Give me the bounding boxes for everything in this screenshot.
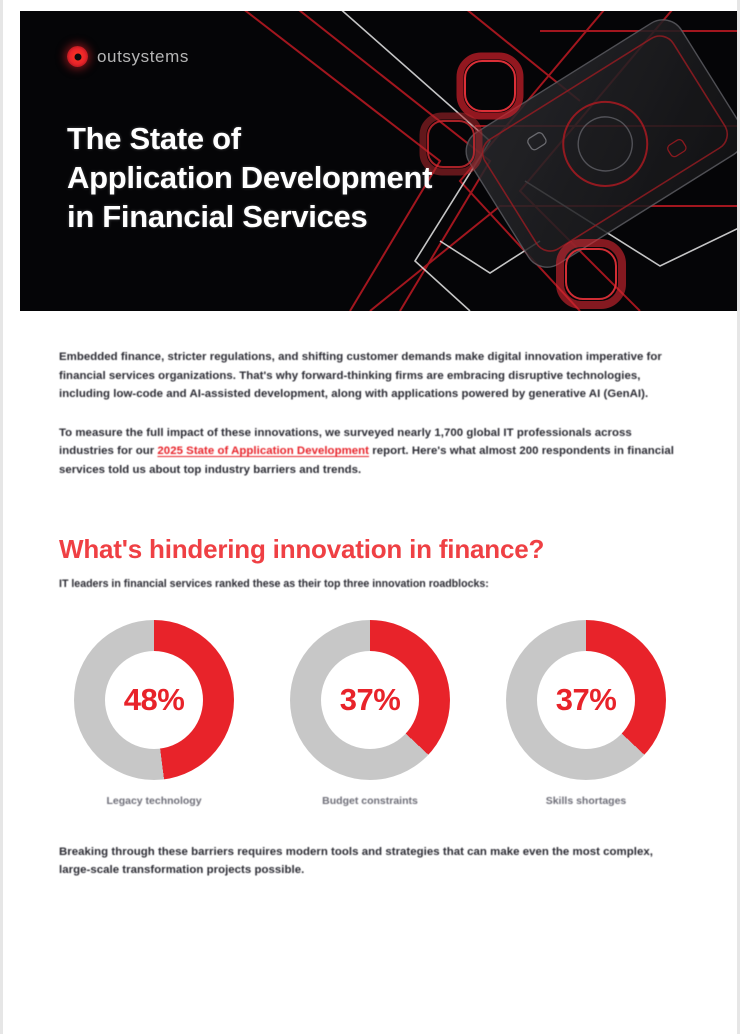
donut-stat-0: 48% Legacy technology [65,620,243,809]
intro-paragraph-2: To measure the full impact of these inno… [59,424,681,480]
donut-chart-group: 48% Legacy technology 37% Budget constra… [59,620,681,809]
hero-banner: outsystems The State of Application Deve… [20,11,740,311]
donut-ring-2: 37% [506,620,666,780]
donut-center-1: 37% [321,651,419,749]
section-subheading: IT leaders in financial services ranked … [59,577,681,592]
document-body: Embedded finance, stricter regulations, … [3,311,737,880]
hero-title-line-1: The State of [67,119,432,158]
closing-paragraph: Breaking through these barriers requires… [59,843,681,880]
donut-value-2: 37% [556,682,617,718]
donut-ring-1: 37% [290,620,450,780]
donut-label-0: Legacy technology [106,794,201,809]
report-link[interactable]: 2025 State of Application Development [157,445,369,457]
intro-paragraph-1: Embedded finance, stricter regulations, … [59,348,681,404]
brand-logo[interactable]: outsystems [67,46,189,67]
donut-stat-2: 37% Skills shortages [497,620,675,809]
donut-center-2: 37% [537,651,635,749]
section-heading: What's hindering innovation in finance? [59,534,681,565]
infographic-page: outsystems The State of Application Deve… [0,0,740,1034]
donut-center-0: 48% [105,651,203,749]
hero-title: The State of Application Development in … [67,119,432,236]
outsystems-o-mark-icon [67,46,88,67]
hero-title-line-2: Application Development [67,158,432,197]
hero-title-line-3: in Financial Services [67,197,432,236]
donut-value-1: 37% [340,682,401,718]
donut-ring-0: 48% [74,620,234,780]
donut-label-1: Budget constraints [322,794,418,809]
donut-label-2: Skills shortages [546,794,627,809]
donut-stat-1: 37% Budget constraints [281,620,459,809]
donut-value-0: 48% [124,682,185,718]
brand-logo-wordmark: outsystems [97,47,189,67]
